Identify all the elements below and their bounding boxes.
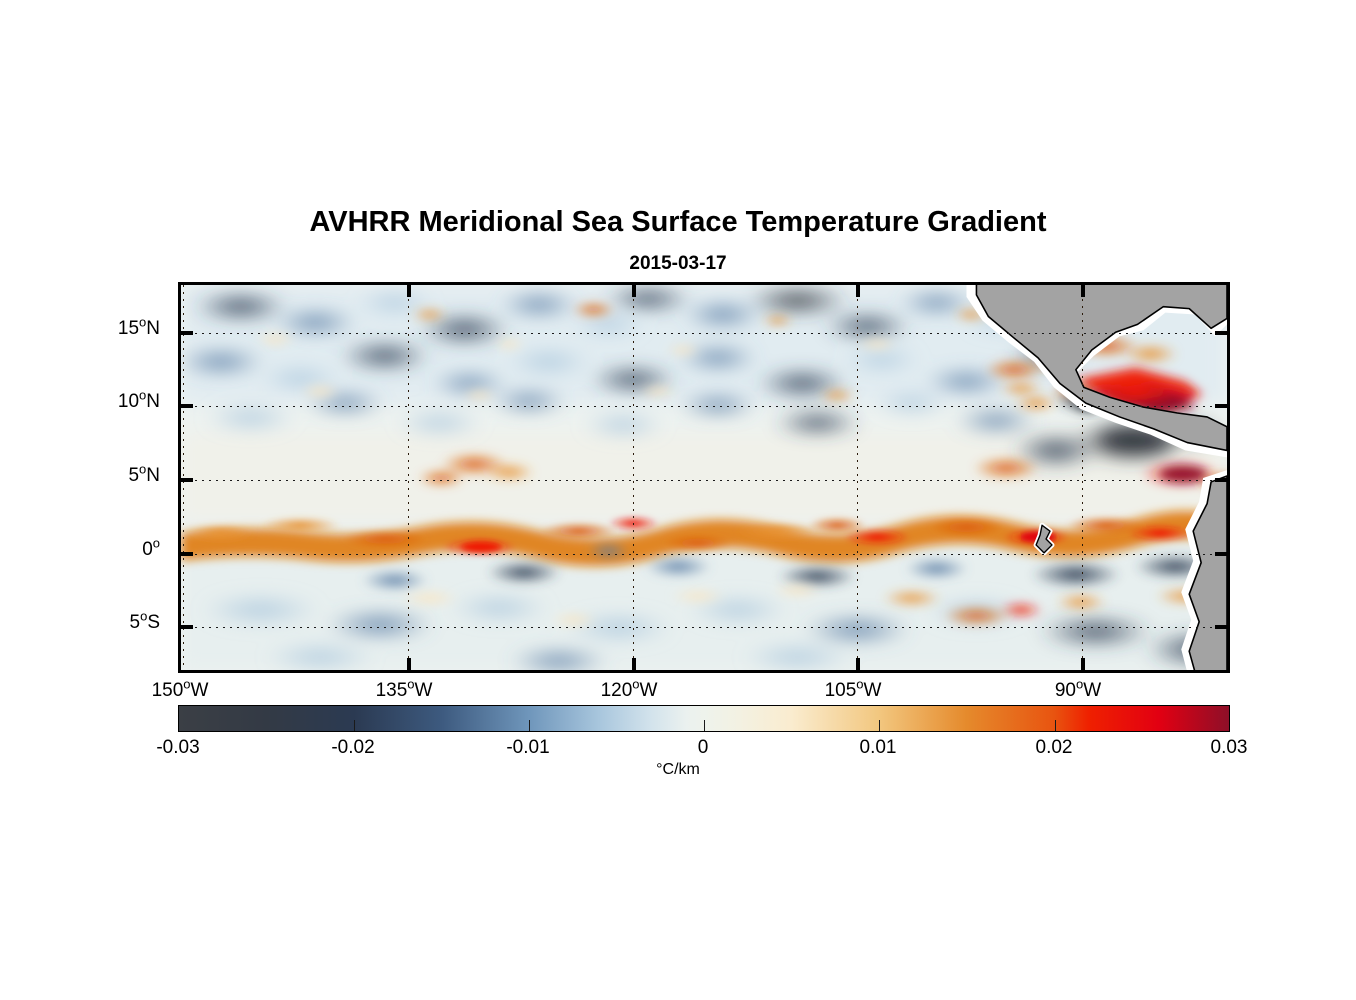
tick-lon-120w-bottom xyxy=(632,658,636,671)
map-axes xyxy=(178,282,1230,673)
xtick-label-135w: 135oW xyxy=(334,680,474,702)
page-title: AVHRR Meridional Sea Surface Temperature… xyxy=(0,206,1356,239)
figure-subtitle: 2015-03-17 xyxy=(0,253,1356,275)
xtick-label-105w: 105oW xyxy=(783,680,923,702)
figure-canvas: AVHRR Meridional Sea Surface Temperature… xyxy=(0,0,1356,1000)
colorbar-label--0.01: -0.01 xyxy=(458,737,598,759)
xtick-label-150w: 150oW xyxy=(110,680,250,702)
colorbar-label-0.02: 0.02 xyxy=(984,737,1124,759)
tick-lon-90w xyxy=(1081,284,1085,297)
tick-lon-135w-bottom xyxy=(407,658,411,671)
tick-lat-0-right xyxy=(1215,552,1228,556)
ytick-label-5s: 5oS xyxy=(40,612,160,634)
tick-lon-90w-bottom xyxy=(1081,658,1085,671)
tick-lon-105w xyxy=(856,284,860,297)
tick-lon-105w-bottom xyxy=(856,658,860,671)
tick-lat-15n xyxy=(180,331,193,335)
tick-lat-10n-right xyxy=(1215,404,1228,408)
tick-lat-15n-right xyxy=(1215,331,1228,335)
ytick-label-10n: 10oN xyxy=(40,391,160,413)
tick-lon-120w xyxy=(632,284,636,297)
ytick-label-5n: 5oN xyxy=(40,465,160,487)
colorbar-label-0.03: 0.03 xyxy=(1159,737,1299,759)
tick-lat-10n xyxy=(180,404,193,408)
tick-lat-5n-right xyxy=(1215,478,1228,482)
tick-lat-5s xyxy=(180,625,193,629)
colorbar-tick--0.01 xyxy=(529,720,530,731)
colorbar-tick--0.02 xyxy=(354,720,355,731)
colorbar-unit-label: °C/km xyxy=(0,761,1356,779)
map-plot-area xyxy=(181,285,1227,670)
sst-gradient-heatmap xyxy=(181,285,1227,670)
ytick-label-0: 0o xyxy=(40,539,160,561)
ytick-label-15n: 15oN xyxy=(40,318,160,340)
colorbar-label--0.03: -0.03 xyxy=(108,737,248,759)
tick-lat-0 xyxy=(180,552,193,556)
colorbar xyxy=(178,705,1230,732)
tick-lat-5n xyxy=(180,478,193,482)
colorbar-label-0.01: 0.01 xyxy=(808,737,948,759)
colorbar-label--0.02: -0.02 xyxy=(283,737,423,759)
colorbar-tick-0 xyxy=(704,720,705,731)
colorbar-label-0: 0 xyxy=(633,737,773,759)
colorbar-tick-0.02 xyxy=(1055,720,1056,731)
tick-lon-135w xyxy=(407,284,411,297)
xtick-label-120w: 120oW xyxy=(559,680,699,702)
colorbar-tick-0.01 xyxy=(879,720,880,731)
xtick-label-90w: 90oW xyxy=(1008,680,1148,702)
tick-lat-5s-right xyxy=(1215,625,1228,629)
